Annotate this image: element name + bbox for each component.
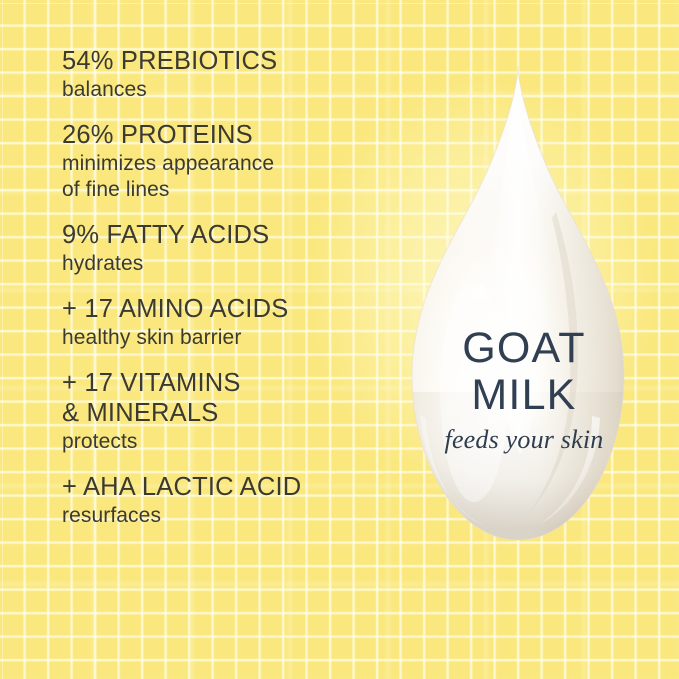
ingredient-list: 54% PREBIOTICS balances 26% PROTEINS min… xyxy=(62,46,392,529)
ingredient-description: hydrates xyxy=(62,251,392,277)
ingredient-title: + AHA LACTIC ACID xyxy=(62,472,392,502)
ingredient-description: resurfaces xyxy=(62,503,392,529)
ingredient-description: protects xyxy=(62,429,392,455)
list-item: 26% PROTEINS minimizes appearance of fin… xyxy=(62,120,392,203)
product-infographic: 54% PREBIOTICS balances 26% PROTEINS min… xyxy=(0,0,679,679)
list-item: + 17 VITAMINS & MINERALS protects xyxy=(62,368,392,455)
list-item: 54% PREBIOTICS balances xyxy=(62,46,392,103)
ingredient-title: + 17 VITAMINS & MINERALS xyxy=(62,368,392,428)
ingredient-description: healthy skin barrier xyxy=(62,325,392,351)
ingredient-title: + 17 AMINO ACIDS xyxy=(62,294,392,324)
list-item: + 17 AMINO ACIDS healthy skin barrier xyxy=(62,294,392,351)
milk-droplet-icon xyxy=(388,62,660,554)
list-item: 9% FATTY ACIDS hydrates xyxy=(62,220,392,277)
ingredient-description: balances xyxy=(62,77,392,103)
ingredient-description: minimizes appearance of fine lines xyxy=(62,151,392,203)
ingredient-title: 26% PROTEINS xyxy=(62,120,392,150)
ingredient-title: 9% FATTY ACIDS xyxy=(62,220,392,250)
ingredient-title: 54% PREBIOTICS xyxy=(62,46,392,76)
list-item: + AHA LACTIC ACID resurfaces xyxy=(62,472,392,529)
